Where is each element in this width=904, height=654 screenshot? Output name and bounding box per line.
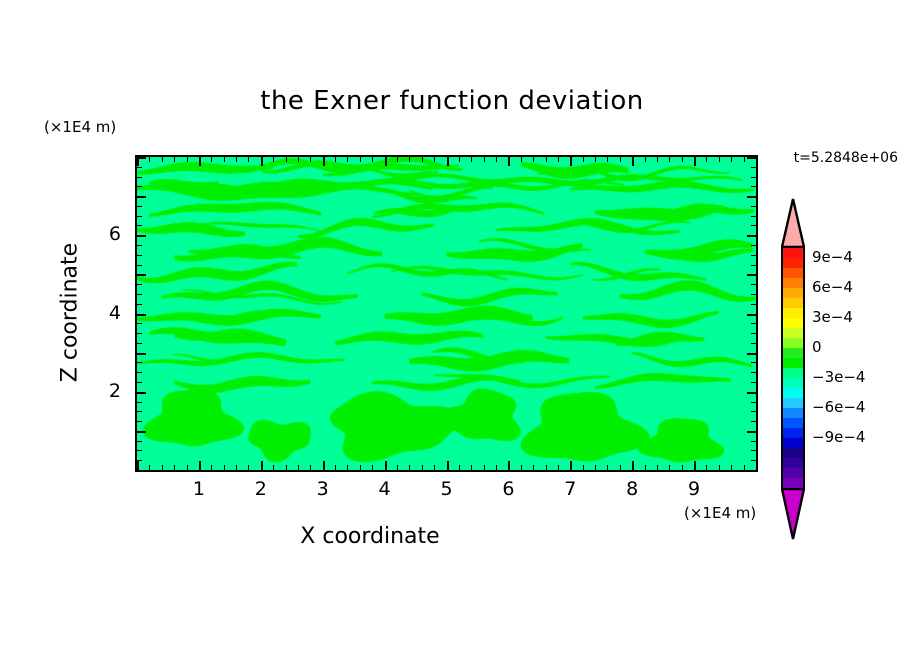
colorbar-tick-label: −9e−4: [812, 428, 865, 446]
x-tick-top-minor: [187, 157, 188, 162]
x-tick-label: 2: [246, 478, 276, 500]
colorbar-band: [783, 418, 803, 428]
z-tick-right-major: [747, 196, 756, 198]
x-tick-top-minor: [422, 157, 423, 162]
x-tick-top-minor: [248, 157, 249, 162]
x-tick-label: 3: [308, 478, 338, 500]
x-tick-minor: [719, 465, 720, 470]
page-title: the Exner function deviation: [0, 86, 904, 116]
x-tick-major: [199, 461, 201, 470]
z-tick-right-minor: [751, 206, 756, 207]
z-tick-right-major: [747, 235, 756, 237]
x-tick-minor: [409, 465, 410, 470]
x-tick-top-minor: [149, 157, 150, 162]
x-tick-top-minor: [583, 157, 584, 162]
x-tick-minor: [397, 465, 398, 470]
z-tick-label: 6: [95, 223, 121, 245]
x-tick-top-minor: [211, 157, 212, 162]
x-tick-top-major: [261, 157, 263, 166]
contour-field: [137, 157, 756, 470]
colorbar-band: [783, 388, 803, 398]
x-tick-major: [323, 461, 325, 470]
x-tick-minor: [546, 465, 547, 470]
x-tick-top-minor: [521, 157, 522, 162]
z-tick-minor: [137, 372, 142, 373]
z-tick-right-major: [747, 353, 756, 355]
colorbar-band: [783, 398, 803, 408]
z-tick-right-minor: [751, 411, 756, 412]
x-tick-top-major: [447, 157, 449, 166]
z-tick-minor: [137, 402, 142, 403]
x-tick-minor: [583, 465, 584, 470]
z-tick-label: 2: [95, 380, 121, 402]
x-tick-top-minor: [546, 157, 547, 162]
x-tick-minor: [682, 465, 683, 470]
z-tick-minor: [137, 284, 142, 285]
x-axis-unit-label: (×1E4 m): [684, 504, 756, 522]
x-tick-major: [570, 461, 572, 470]
x-tick-minor: [657, 465, 658, 470]
x-tick-top-minor: [273, 157, 274, 162]
z-tick-right-minor: [751, 323, 756, 324]
x-tick-major: [756, 461, 758, 470]
x-tick-minor: [422, 465, 423, 470]
x-tick-label: 8: [617, 478, 647, 500]
z-tick-right-major: [747, 431, 756, 433]
colorbar-band: [783, 428, 803, 438]
z-tick-right-minor: [751, 216, 756, 217]
x-tick-top-minor: [484, 157, 485, 162]
colorbar-band: [783, 328, 803, 338]
x-tick-top-minor: [298, 157, 299, 162]
x-tick-minor: [162, 465, 163, 470]
x-tick-top-major: [199, 157, 201, 166]
x-tick-minor: [236, 465, 237, 470]
x-tick-top-minor: [162, 157, 163, 162]
x-tick-minor: [286, 465, 287, 470]
x-tick-minor: [744, 465, 745, 470]
x-tick-top-minor: [645, 157, 646, 162]
z-tick-major: [137, 470, 146, 472]
x-tick-minor: [224, 465, 225, 470]
colorbar-band: [783, 458, 803, 468]
x-tick-minor: [149, 465, 150, 470]
z-tick-right-minor: [751, 382, 756, 383]
x-tick-top-minor: [657, 157, 658, 162]
z-tick-right-minor: [751, 333, 756, 334]
x-tick-major: [137, 461, 139, 470]
z-tick-right-minor: [751, 167, 756, 168]
colorbar-tick-label: 0: [812, 338, 822, 356]
figure-canvas: the Exner function deviation t=5.2848e+0…: [0, 0, 904, 654]
x-tick-top-minor: [607, 157, 608, 162]
z-tick-major: [137, 235, 146, 237]
z-tick-right-minor: [751, 343, 756, 344]
z-tick-right-minor: [751, 225, 756, 226]
colorbar-bottom-cap-icon: [781, 488, 805, 540]
colorbar-band: [783, 268, 803, 278]
x-tick-top-major: [570, 157, 572, 166]
z-tick-right-minor: [751, 450, 756, 451]
x-tick-top-minor: [372, 157, 373, 162]
z-tick-minor: [137, 304, 142, 305]
x-tick-minor: [248, 465, 249, 470]
z-tick-right-minor: [751, 304, 756, 305]
x-tick-minor: [459, 465, 460, 470]
x-tick-minor: [360, 465, 361, 470]
x-tick-minor: [620, 465, 621, 470]
z-tick-right-minor: [751, 294, 756, 295]
x-tick-top-major: [756, 157, 758, 166]
z-tick-major: [137, 431, 146, 433]
z-tick-right-major: [747, 314, 756, 316]
x-tick-minor: [310, 465, 311, 470]
z-tick-minor: [137, 441, 142, 442]
colorbar-band: [783, 348, 803, 358]
x-tick-minor: [187, 465, 188, 470]
x-tick-major: [261, 461, 263, 470]
z-tick-minor: [137, 167, 142, 168]
z-tick-right-minor: [751, 421, 756, 422]
x-tick-top-minor: [409, 157, 410, 162]
x-tick-minor: [372, 465, 373, 470]
x-tick-major: [632, 461, 634, 470]
z-tick-minor: [137, 177, 142, 178]
x-tick-major: [694, 461, 696, 470]
x-tick-top-minor: [682, 157, 683, 162]
x-tick-label: 7: [555, 478, 585, 500]
colorbar-band: [783, 338, 803, 348]
colorbar-band: [783, 378, 803, 388]
x-tick-top-minor: [397, 157, 398, 162]
z-tick-minor: [137, 382, 142, 383]
z-tick-minor: [137, 343, 142, 344]
x-tick-minor: [347, 465, 348, 470]
colorbar-band: [783, 308, 803, 318]
x-tick-label: 4: [370, 478, 400, 500]
colorbar-tick-label: −3e−4: [812, 368, 865, 386]
x-tick-minor: [471, 465, 472, 470]
x-tick-top-minor: [434, 157, 435, 162]
colorbar-band: [783, 298, 803, 308]
x-tick-top-major: [694, 157, 696, 166]
x-tick-minor: [731, 465, 732, 470]
x-tick-minor: [645, 465, 646, 470]
x-tick-top-minor: [558, 157, 559, 162]
x-tick-major: [508, 461, 510, 470]
x-tick-top-minor: [224, 157, 225, 162]
x-tick-top-major: [508, 157, 510, 166]
x-tick-top-minor: [459, 157, 460, 162]
z-tick-minor: [137, 362, 142, 363]
z-tick-major: [137, 314, 146, 316]
z-tick-right-minor: [751, 362, 756, 363]
z-axis-unit-label: (×1E4 m): [44, 118, 116, 136]
x-tick-top-minor: [595, 157, 596, 162]
z-tick-right-major: [747, 274, 756, 276]
colorbar-band: [783, 468, 803, 478]
x-tick-minor: [521, 465, 522, 470]
colorbar-band: [783, 408, 803, 418]
x-tick-minor: [273, 465, 274, 470]
z-tick-label: 4: [95, 302, 121, 324]
x-tick-top-major: [632, 157, 634, 166]
x-tick-top-minor: [731, 157, 732, 162]
x-tick-top-minor: [286, 157, 287, 162]
x-axis-title: X coordinate: [0, 524, 740, 549]
z-tick-minor: [137, 186, 142, 187]
z-tick-major: [137, 196, 146, 198]
z-tick-minor: [137, 225, 142, 226]
x-tick-top-minor: [719, 157, 720, 162]
x-tick-top-minor: [236, 157, 237, 162]
contour-plot-area[interactable]: [135, 155, 758, 472]
x-tick-top-minor: [174, 157, 175, 162]
x-tick-top-minor: [744, 157, 745, 162]
z-tick-right-major: [747, 470, 756, 472]
z-tick-minor: [137, 265, 142, 266]
z-tick-minor: [137, 450, 142, 451]
z-tick-right-major: [747, 157, 756, 159]
x-tick-minor: [706, 465, 707, 470]
x-tick-top-minor: [620, 157, 621, 162]
x-tick-top-minor: [706, 157, 707, 162]
z-tick-major: [137, 353, 146, 355]
x-tick-top-minor: [335, 157, 336, 162]
x-tick-minor: [484, 465, 485, 470]
z-tick-right-minor: [751, 441, 756, 442]
time-annotation: t=5.2848e+06: [794, 150, 898, 166]
colorbar-band: [783, 258, 803, 268]
z-tick-major: [137, 274, 146, 276]
colorbar-band: [783, 318, 803, 328]
x-tick-minor: [558, 465, 559, 470]
z-tick-minor: [137, 460, 142, 461]
x-tick-minor: [607, 465, 608, 470]
colorbar-tick-label: 6e−4: [812, 278, 853, 296]
x-tick-major: [385, 461, 387, 470]
z-tick-right-minor: [751, 186, 756, 187]
colorbar-band: [783, 448, 803, 458]
z-tick-minor: [137, 255, 142, 256]
x-tick-label: 9: [679, 478, 709, 500]
x-tick-top-minor: [669, 157, 670, 162]
x-tick-minor: [434, 465, 435, 470]
colorbar-band: [783, 358, 803, 368]
z-tick-major: [137, 157, 146, 159]
x-tick-top-minor: [533, 157, 534, 162]
z-tick-right-minor: [751, 372, 756, 373]
z-tick-right-minor: [751, 245, 756, 246]
z-tick-minor: [137, 411, 142, 412]
colorbar-tick-label: −6e−4: [812, 398, 865, 416]
z-tick-minor: [137, 421, 142, 422]
colorbar-top-cap-icon: [781, 198, 805, 248]
x-tick-major: [447, 461, 449, 470]
colorbar-band: [783, 278, 803, 288]
x-tick-top-minor: [347, 157, 348, 162]
x-tick-minor: [211, 465, 212, 470]
x-tick-top-minor: [310, 157, 311, 162]
colorbar-band: [783, 248, 803, 258]
colorbar-band: [783, 438, 803, 448]
colorbar-tick-label: 3e−4: [812, 308, 853, 326]
colorbar-band: [783, 368, 803, 378]
x-tick-label: 6: [493, 478, 523, 500]
colorbar-band: [783, 288, 803, 298]
z-tick-major: [137, 392, 146, 394]
z-tick-minor: [137, 216, 142, 217]
x-tick-top-minor: [360, 157, 361, 162]
z-tick-right-minor: [751, 460, 756, 461]
x-tick-minor: [533, 465, 534, 470]
x-tick-top-minor: [471, 157, 472, 162]
x-tick-top-minor: [496, 157, 497, 162]
x-tick-minor: [335, 465, 336, 470]
z-tick-right-major: [747, 392, 756, 394]
z-tick-minor: [137, 294, 142, 295]
colorbar-band-stack[interactable]: [781, 246, 805, 490]
x-tick-label: 5: [432, 478, 462, 500]
x-tick-top-major: [323, 157, 325, 166]
z-tick-minor: [137, 206, 142, 207]
z-tick-minor: [137, 245, 142, 246]
z-tick-minor: [137, 323, 142, 324]
z-tick-right-minor: [751, 402, 756, 403]
x-tick-top-major: [385, 157, 387, 166]
x-tick-minor: [174, 465, 175, 470]
z-tick-right-minor: [751, 284, 756, 285]
z-tick-right-minor: [751, 177, 756, 178]
z-tick-minor: [137, 333, 142, 334]
x-tick-label: 1: [184, 478, 214, 500]
x-tick-minor: [595, 465, 596, 470]
z-tick-right-minor: [751, 255, 756, 256]
z-axis-title: Z coordinate: [58, 213, 83, 413]
colorbar-tick-label: 9e−4: [812, 248, 853, 266]
colorbar-band: [783, 478, 803, 488]
z-tick-right-minor: [751, 265, 756, 266]
x-tick-minor: [669, 465, 670, 470]
x-tick-minor: [496, 465, 497, 470]
x-tick-minor: [298, 465, 299, 470]
